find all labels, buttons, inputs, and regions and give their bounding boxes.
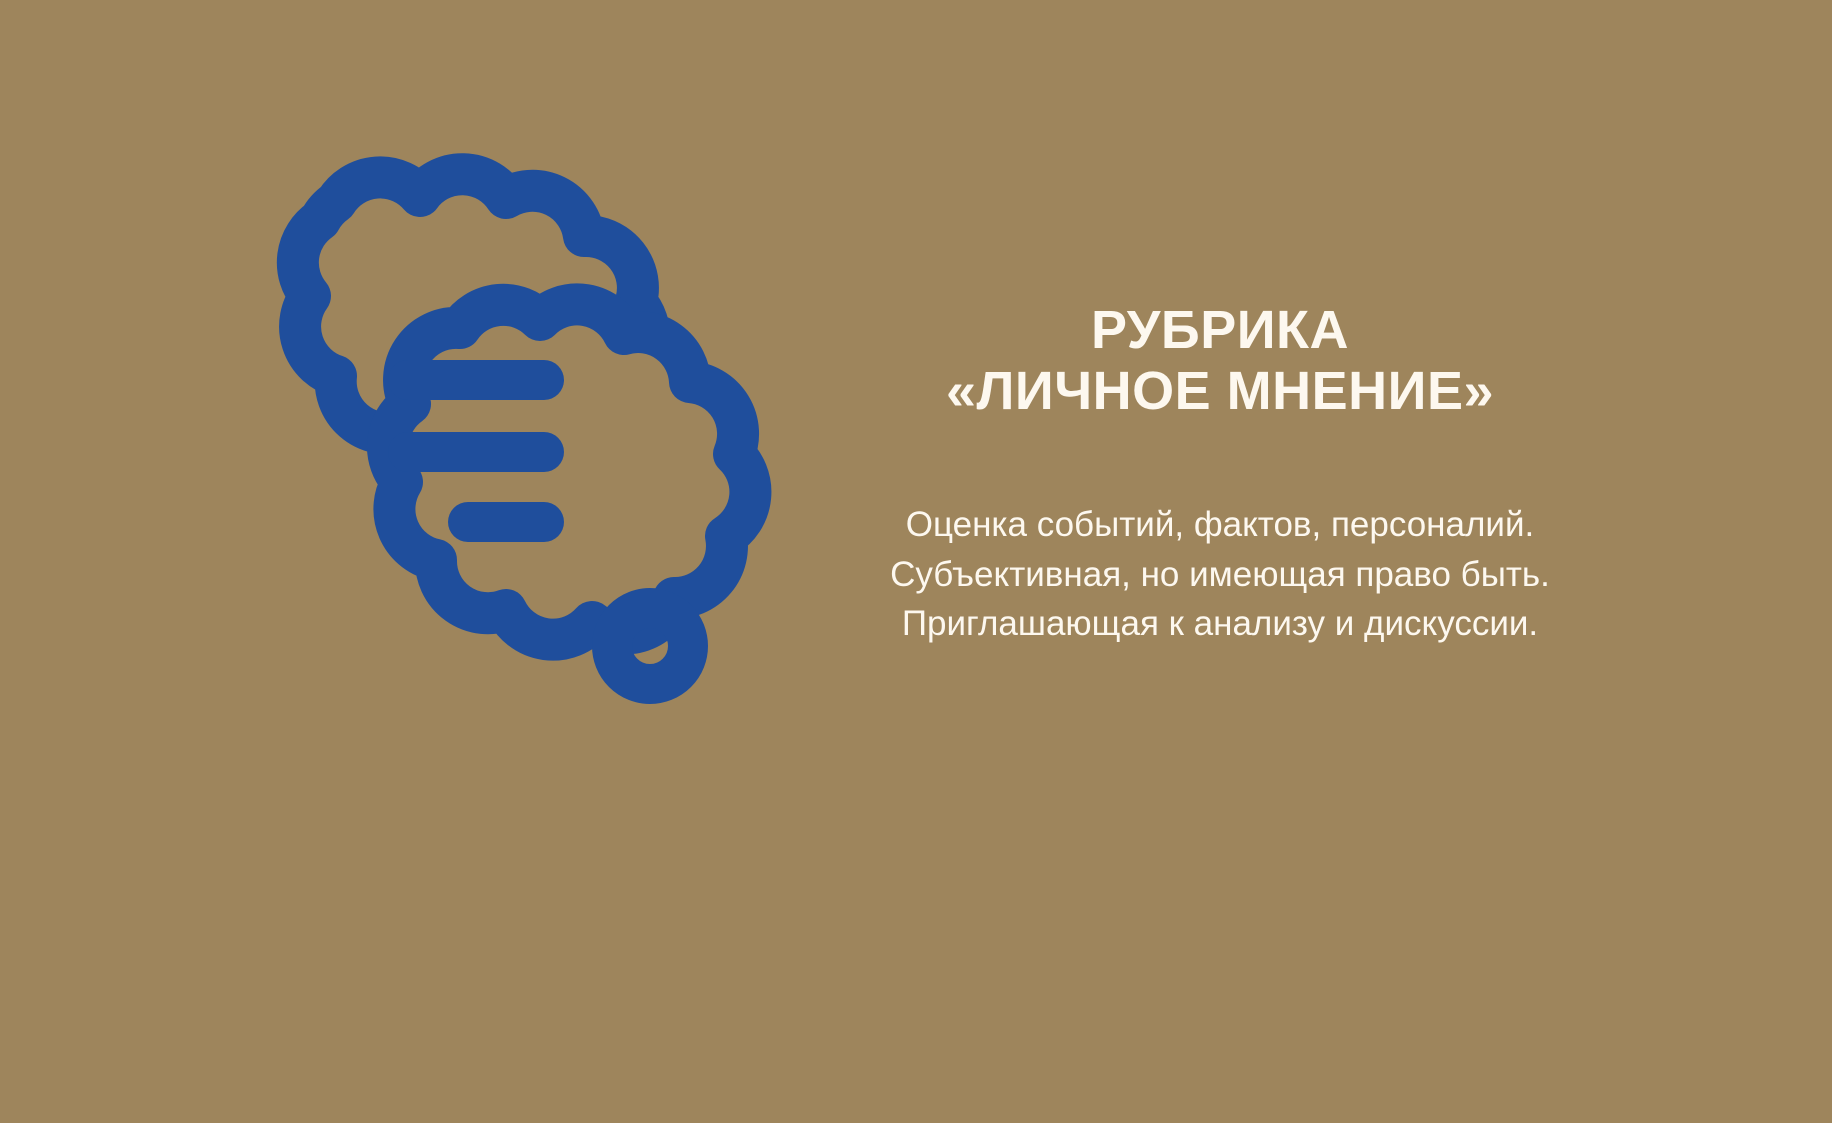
subtitle-line-1: Оценка событий, фактов, персоналий.	[860, 500, 1580, 550]
subtitle-text: Оценка событий, фактов, персоналий. Субъ…	[860, 422, 1580, 649]
subtitle-line-2: Субъективная, но имеющая право быть.	[860, 550, 1580, 600]
bubble-text-line-3	[448, 502, 564, 542]
rubric-banner: РУБРИКА «ЛИЧНОЕ МНЕНИЕ» Оценка событий, …	[0, 0, 1832, 1123]
subtitle-line-3: Приглашающая к анализу и дискуссии.	[860, 599, 1580, 649]
title-line-1: РУБРИКА	[860, 300, 1580, 361]
page-title: РУБРИКА «ЛИЧНОЕ МНЕНИЕ»	[860, 300, 1580, 422]
title-line-2: «ЛИЧНОЕ МНЕНИЕ»	[860, 361, 1580, 422]
thought-bubble-illustration	[160, 150, 860, 830]
text-column: РУБРИКА «ЛИЧНОЕ МНЕНИЕ» Оценка событий, …	[860, 300, 1580, 649]
thought-bubble-svg	[160, 150, 860, 830]
bubble-text-line-2	[388, 432, 564, 472]
bubble-text-line-1	[388, 360, 564, 400]
front-thought-cloud	[388, 304, 750, 639]
